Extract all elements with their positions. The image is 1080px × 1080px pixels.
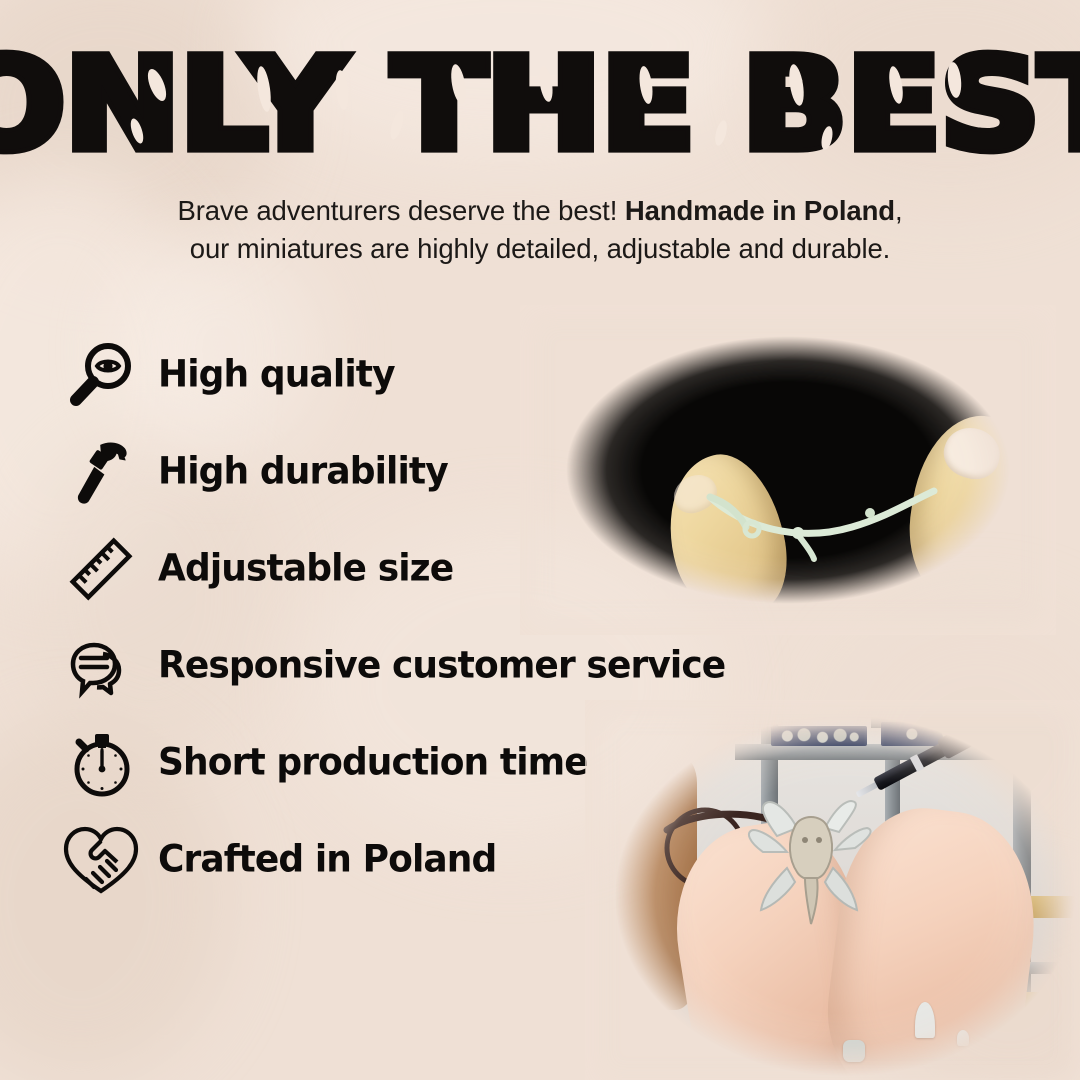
miniature-sprue xyxy=(843,1040,865,1062)
promo-graphic: ONLY THE BEST Brave adventurers deserve … xyxy=(0,0,1080,1080)
subtitle-text-comma: , xyxy=(895,195,903,226)
hammer-icon xyxy=(62,433,140,511)
flexible-miniature-photo xyxy=(520,305,1056,635)
ruler-icon xyxy=(62,530,140,608)
subtitle-text-bold: Handmade in Poland xyxy=(625,195,895,226)
dragon-miniature xyxy=(743,796,879,928)
workshop-crafting-photo xyxy=(585,700,1080,1080)
feature-label: Adjustable size xyxy=(158,547,453,590)
feature-label: High durability xyxy=(158,450,448,493)
headline-block: ONLY THE BEST xyxy=(0,0,1080,175)
magnifier-eye-icon xyxy=(62,336,140,414)
subtitle: Brave adventurers deserve the best! Hand… xyxy=(0,192,1080,268)
page-title: ONLY THE BEST xyxy=(0,44,1080,166)
feature-label: Responsive customer service xyxy=(158,644,725,687)
subtitle-line-2: our miniatures are highly detailed, adju… xyxy=(0,230,1080,268)
feature-label: High quality xyxy=(158,353,395,396)
speech-bubbles-icon xyxy=(62,627,140,705)
white-miniature-figure xyxy=(957,1030,969,1046)
feature-label: Crafted in Poland xyxy=(158,838,496,881)
stopwatch-icon xyxy=(62,724,140,802)
subtitle-text-lead: Brave adventurers deserve the best! xyxy=(177,195,624,226)
feature-label: Short production time xyxy=(158,741,588,784)
subtitle-line-1: Brave adventurers deserve the best! Hand… xyxy=(0,192,1080,230)
flexible-miniature-part xyxy=(702,483,942,561)
heart-handshake-icon xyxy=(62,821,140,899)
